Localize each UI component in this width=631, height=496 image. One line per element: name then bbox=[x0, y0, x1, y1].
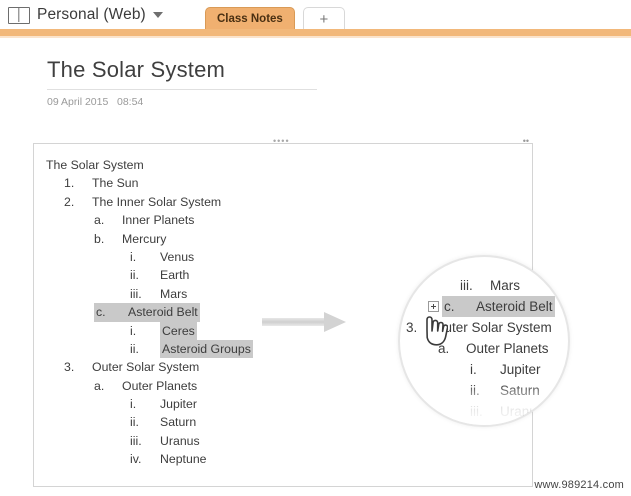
outline-row-marker: ii. bbox=[130, 266, 160, 284]
outline-row-marker: i. bbox=[130, 248, 160, 266]
outline-row[interactable]: a.Outer Planets bbox=[46, 377, 253, 395]
outline-row-label: Outer Solar System bbox=[92, 358, 199, 376]
outline-row-label: Inner Planets bbox=[122, 211, 194, 229]
outline-row-marker: iii. bbox=[130, 285, 160, 303]
outline-list: The Solar System1.The Sun2.The Inner Sol… bbox=[46, 156, 253, 469]
outline-row-label: Ceres bbox=[160, 322, 197, 340]
outline-row-label: Jupiter bbox=[160, 395, 197, 413]
chevron-down-icon[interactable] bbox=[153, 12, 163, 18]
outline-row-label: Outer Planets bbox=[122, 377, 197, 395]
outline-row[interactable]: i.Jupiter bbox=[46, 395, 253, 413]
outline-row[interactable]: ii.Asteroid Groups bbox=[46, 340, 253, 358]
hand-pointer-cursor bbox=[418, 314, 448, 354]
magnified-row-label: Jupiter bbox=[500, 359, 541, 380]
outline-row-marker: 2. bbox=[64, 193, 92, 211]
outline-row-marker: 1. bbox=[64, 174, 92, 192]
page-meta: 09 April 2015 08:54 bbox=[47, 96, 317, 108]
outline-row-label: Asteroid Belt bbox=[126, 303, 200, 321]
outline-row[interactable]: iv.Neptune bbox=[46, 450, 253, 468]
outline-row[interactable]: i.Ceres bbox=[46, 322, 253, 340]
magnified-outline-row[interactable]: iii.Mars bbox=[460, 275, 520, 296]
magnified-outline-row[interactable]: iii.Uranus bbox=[470, 401, 544, 422]
tab-bar-accent-bar bbox=[0, 29, 631, 36]
magnified-row-label: Uranus bbox=[500, 401, 544, 422]
page-date: 09 April 2015 bbox=[47, 96, 117, 108]
outline-row-label: Uranus bbox=[160, 432, 200, 450]
magnified-row-label: Mars bbox=[490, 275, 520, 296]
outline-row[interactable]: The Solar System bbox=[46, 156, 253, 174]
outline-row[interactable]: i.Venus bbox=[46, 248, 253, 266]
outline-row-marker: c. bbox=[94, 303, 126, 321]
outline-row-marker: ii. bbox=[130, 340, 160, 358]
outline-row-marker: i. bbox=[130, 322, 160, 340]
watermark: www.989214.com bbox=[534, 479, 624, 491]
magnified-row-marker: ii. bbox=[470, 380, 500, 401]
outline-row-label: Saturn bbox=[160, 413, 196, 431]
outline-row-label: Mars bbox=[160, 285, 187, 303]
outline-row-label: Neptune bbox=[160, 450, 207, 468]
outline-row[interactable]: b.Mercury bbox=[46, 230, 253, 248]
page-title[interactable]: The Solar System bbox=[47, 57, 317, 90]
notebook-switcher[interactable]: Personal (Web) bbox=[8, 2, 163, 28]
notebook-icon bbox=[8, 7, 30, 24]
magnified-row-marker: iii. bbox=[470, 401, 500, 422]
tab-class-notes[interactable]: Class Notes bbox=[205, 7, 295, 30]
outline-row-marker: 3. bbox=[64, 358, 92, 376]
outline-row-label: The Sun bbox=[92, 174, 139, 192]
outline-row-marker: iv. bbox=[130, 450, 160, 468]
expand-plus-icon[interactable] bbox=[428, 301, 439, 312]
outline-row[interactable]: c.Asteroid Belt bbox=[46, 303, 253, 321]
outline-row[interactable]: ii.Earth bbox=[46, 266, 253, 284]
outline-row[interactable]: 1.The Sun bbox=[46, 174, 253, 192]
outline-row[interactable]: 3.Outer Solar System bbox=[46, 358, 253, 376]
outline-row-marker: i. bbox=[130, 395, 160, 413]
magnified-row-marker: i. bbox=[470, 359, 500, 380]
outline-row-label: Earth bbox=[160, 266, 189, 284]
outline-row-marker: ii. bbox=[130, 413, 160, 431]
outline-row-label: Mercury bbox=[122, 230, 166, 248]
outline-row-marker: a. bbox=[94, 377, 122, 395]
add-tab-button[interactable]: + bbox=[303, 7, 345, 30]
outline-row[interactable]: ii.Saturn bbox=[46, 413, 253, 431]
magnified-row-label: Saturn bbox=[500, 380, 540, 401]
page-header: The Solar System 09 April 2015 08:54 bbox=[47, 57, 317, 108]
arrow-right-icon bbox=[262, 312, 350, 332]
outline-row-marker: iii. bbox=[130, 432, 160, 450]
magnified-outline-row[interactable]: i.Jupiter bbox=[470, 359, 541, 380]
magnified-outline-row[interactable]: ii.Saturn bbox=[470, 380, 540, 401]
outline-row[interactable]: iii.Mars bbox=[46, 285, 253, 303]
page-time: 08:54 bbox=[117, 96, 143, 108]
magnified-row-marker: iii. bbox=[460, 275, 490, 296]
outline-row-label: The Inner Solar System bbox=[92, 193, 221, 211]
outline-row[interactable]: 2.The Inner Solar System bbox=[46, 193, 253, 211]
outline-row-label: Venus bbox=[160, 248, 194, 266]
tab-bar: Personal (Web) Class Notes + bbox=[0, 0, 631, 30]
tab-strip: Class Notes + bbox=[205, 6, 345, 30]
outline-row-label: The Solar System bbox=[46, 156, 144, 174]
magnified-row-label: Outer Planets bbox=[466, 338, 549, 359]
outline-row-marker: a. bbox=[94, 211, 122, 229]
outline-row-label: Asteroid Groups bbox=[160, 340, 253, 358]
outline-row-marker: b. bbox=[94, 230, 122, 248]
magnified-row-label: Asteroid Belt bbox=[474, 296, 555, 317]
magnified-row-label: Outer Solar System bbox=[434, 317, 552, 338]
outline-row[interactable]: a.Inner Planets bbox=[46, 211, 253, 229]
magnifier-lens: iii.Marsc.Asteroid Belt3.Outer Solar Sys… bbox=[398, 255, 570, 427]
tab-bar-accent-bar-light bbox=[0, 36, 631, 38]
outline-row[interactable]: iii.Uranus bbox=[46, 432, 253, 450]
magnified-outline-row[interactable]: a.Outer Planets bbox=[438, 338, 549, 359]
notebook-name: Personal (Web) bbox=[37, 6, 146, 24]
